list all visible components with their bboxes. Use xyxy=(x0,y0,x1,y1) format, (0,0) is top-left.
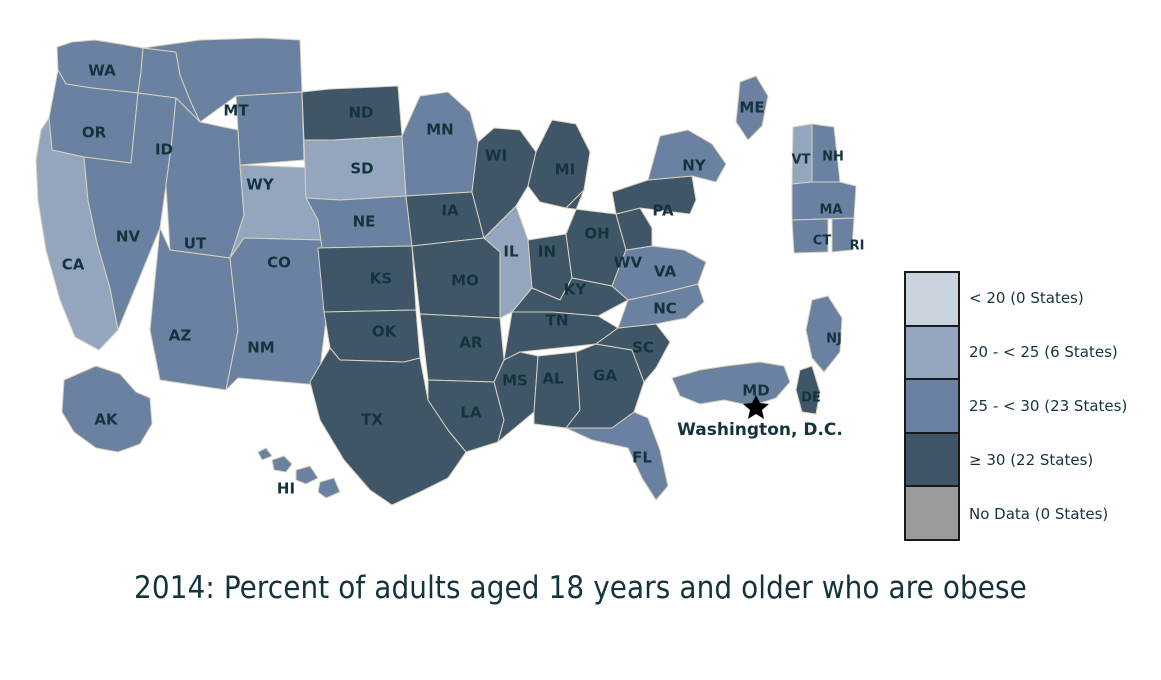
state-label-nv: NV xyxy=(116,228,141,246)
legend-swatch-column xyxy=(904,271,960,541)
state-label-mi: MI xyxy=(555,161,576,179)
legend-swatch-bin1[interactable] xyxy=(906,273,958,327)
state-label-ne: NE xyxy=(353,213,376,231)
state-label-oh: OH xyxy=(584,225,609,243)
state-ak[interactable] xyxy=(62,366,152,452)
state-label-hi: HI xyxy=(277,480,295,498)
state-label-id: ID xyxy=(155,141,173,159)
state-label-ca: CA xyxy=(62,256,85,274)
state-md[interactable] xyxy=(672,362,790,406)
state-label-tx: TX xyxy=(361,411,383,429)
legend-swatch-nodata[interactable] xyxy=(906,487,958,539)
state-label-vt: VT xyxy=(792,153,811,168)
legend-swatch-bin4[interactable] xyxy=(906,434,958,488)
state-ks[interactable] xyxy=(318,246,416,312)
state-label-la: LA xyxy=(460,404,482,422)
state-label-ar: AR xyxy=(459,334,483,352)
legend-swatch-bin3[interactable] xyxy=(906,380,958,434)
state-label-ia: IA xyxy=(441,202,459,220)
state-label-pa: PA xyxy=(652,202,674,220)
state-label-il: IL xyxy=(503,243,519,261)
state-label-sc: SC xyxy=(632,339,654,357)
state-label-nh: NH xyxy=(822,150,844,165)
state-label-va: VA xyxy=(654,263,677,281)
state-label-ct: CT xyxy=(813,234,832,249)
state-label-ny: NY xyxy=(682,157,707,175)
state-label-sd: SD xyxy=(350,160,373,178)
state-hi-islet[interactable] xyxy=(258,448,272,460)
chart-title: 2014: Percent of adults aged 18 years an… xyxy=(0,570,1161,606)
state-label-az: AZ xyxy=(169,327,192,345)
state-label-nc: NC xyxy=(653,300,677,318)
legend-label-bin3: 25 - < 30 (23 States) xyxy=(960,379,1156,433)
legend-label-column: < 20 (0 States)20 - < 25 (6 States)25 - … xyxy=(960,271,1156,541)
state-label-ut: UT xyxy=(184,235,207,253)
state-label-co: CO xyxy=(267,254,291,272)
state-label-wi: WI xyxy=(485,147,507,165)
state-label-mo: MO xyxy=(451,272,479,290)
state-label-tn: TN xyxy=(546,312,569,330)
state-label-or: OR xyxy=(82,124,107,142)
state-al[interactable] xyxy=(534,352,580,428)
legend-label-bin4: ≥ 30 (22 States) xyxy=(960,433,1156,487)
state-label-nj: NJ xyxy=(826,332,842,347)
state-mn[interactable] xyxy=(402,92,478,196)
state-label-wy: WY xyxy=(246,176,275,194)
legend-swatch-bin2[interactable] xyxy=(906,327,958,381)
state-label-al: AL xyxy=(542,370,564,388)
state-label-nm: NM xyxy=(247,339,274,357)
state-label-ks: KS xyxy=(370,270,392,288)
us-states-svg: WAORIDMTWYCANVUTCOAZNMNDSDNEKSOKTXMNIAMO… xyxy=(0,0,900,545)
state-label-ok: OK xyxy=(372,323,398,341)
state-label-ms: MS xyxy=(502,372,528,390)
state-label-ma: MA xyxy=(820,203,843,218)
legend-label-bin1: < 20 (0 States) xyxy=(960,271,1156,325)
state-label-ga: GA xyxy=(593,367,617,385)
choropleth-map: WAORIDMTWYCANVUTCOAZNMNDSDNEKSOKTXMNIAMO… xyxy=(0,0,900,545)
state-label-nd: ND xyxy=(348,104,373,122)
washington-dc-label: Washington, D.C. xyxy=(677,420,843,440)
state-label-mn: MN xyxy=(426,121,453,139)
state-label-mt: MT xyxy=(223,102,249,120)
state-label-de: DE xyxy=(801,391,821,406)
state-label-in: IN xyxy=(538,243,556,261)
state-label-ak: AK xyxy=(94,411,119,429)
legend-label-bin2: 20 - < 25 (6 States) xyxy=(960,325,1156,379)
state-label-ky: KY xyxy=(564,281,588,299)
legend-label-nodata: No Data (0 States) xyxy=(960,487,1156,541)
state-label-wa: WA xyxy=(88,62,116,80)
map-figure: WAORIDMTWYCANVUTCOAZNMNDSDNEKSOKTXMNIAMO… xyxy=(0,0,1161,680)
state-label-me: ME xyxy=(739,99,764,117)
state-label-ri: RI xyxy=(850,239,865,254)
state-label-wv: WV xyxy=(614,254,643,272)
state-label-fl: FL xyxy=(632,449,652,467)
